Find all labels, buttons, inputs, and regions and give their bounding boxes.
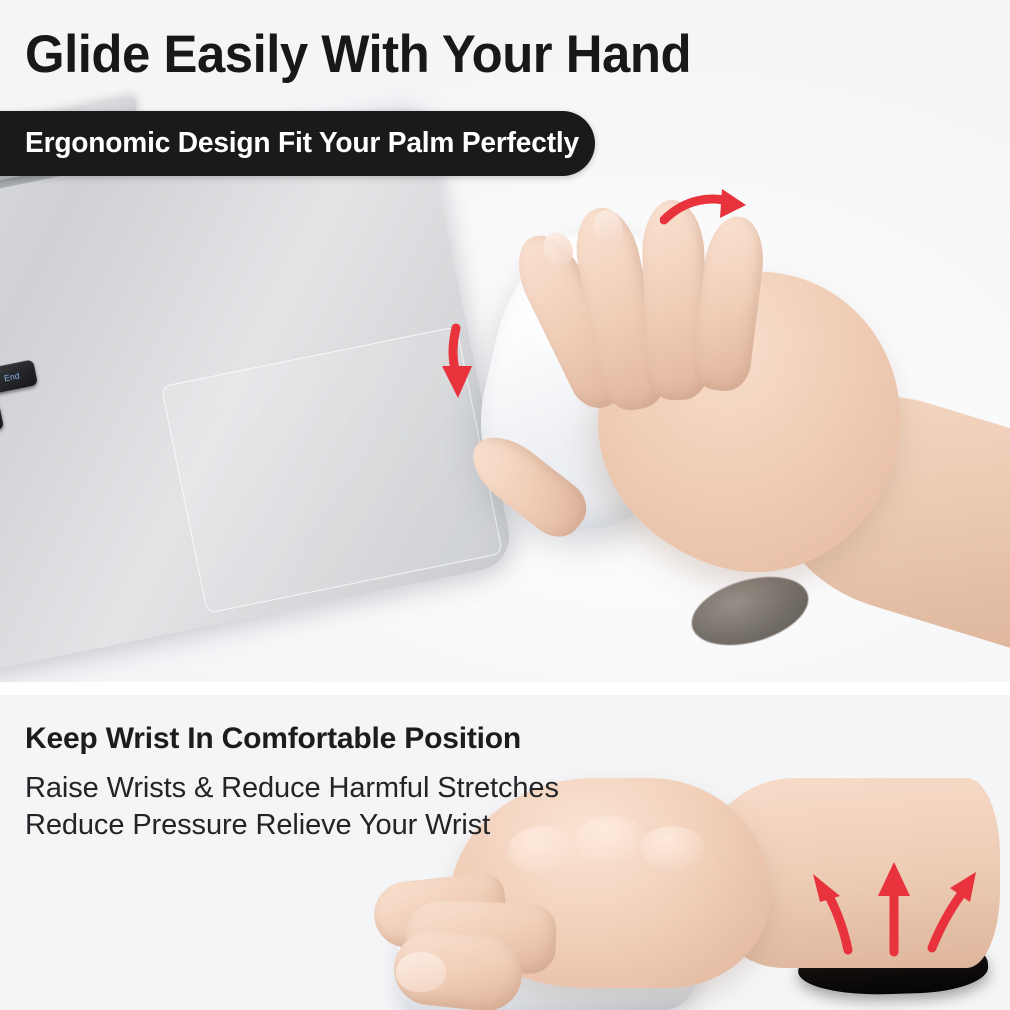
glide-arrow-down: [430, 322, 490, 417]
section-subtext: Raise Wrists & Reduce Harmful Stretches …: [25, 770, 559, 844]
thumb-nail-bottom: [396, 952, 446, 992]
page-title: Glide Easily With Your Hand: [25, 27, 691, 83]
section-heading: Keep Wrist In Comfortable Position: [25, 722, 521, 756]
hand-on-mouse-top: [560, 210, 1010, 680]
key-end: End: [0, 359, 38, 394]
knuckle-2: [576, 816, 646, 864]
glide-arrow-right: [660, 188, 760, 241]
key-pgdn: PgDn: [0, 403, 4, 438]
top-panel: Backspace Enter Shift ? PgUp PgDn End Ho…: [0, 0, 1010, 682]
status-badge: Ergonomic Design Fit Your Palm Perfectly: [0, 111, 595, 176]
support-arrows: [800, 852, 980, 967]
product-infographic: Backspace Enter Shift ? PgUp PgDn End Ho…: [0, 0, 1010, 1010]
knuckle-3: [640, 826, 704, 870]
subtext-line-1: Raise Wrists & Reduce Harmful Stretches: [25, 770, 559, 807]
status-badge-label: Ergonomic Design Fit Your Palm Perfectly: [25, 111, 579, 176]
panel-divider: [0, 682, 1010, 695]
subtext-line-2: Reduce Pressure Relieve Your Wrist: [25, 807, 559, 844]
